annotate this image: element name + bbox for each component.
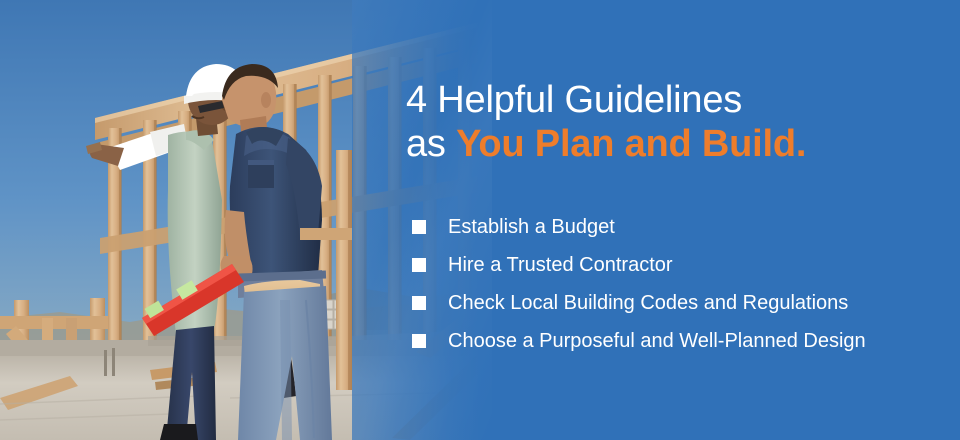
headline-line-2: as You Plan and Build. [406,122,946,166]
headline-accent: You Plan and Build. [456,123,806,165]
list-item-label: Choose a Purposeful and Well-Planned Des… [448,330,866,352]
guidelines-list: Establish a Budget Hire a Trusted Contra… [412,208,952,360]
banner-content: 4 Helpful Guidelines as You Plan and Bui… [406,0,946,440]
list-item-label: Check Local Building Codes and Regulatio… [448,292,848,314]
list-item: Hire a Trusted Contractor [412,246,952,284]
square-bullet-icon [412,220,426,234]
headline-line-1: 4 Helpful Guidelines [406,79,742,121]
square-bullet-icon [412,334,426,348]
square-bullet-icon [412,258,426,272]
square-bullet-icon [412,296,426,310]
list-item: Choose a Purposeful and Well-Planned Des… [412,322,952,360]
headline-prefix: as [406,123,456,165]
list-item: Check Local Building Codes and Regulatio… [412,284,952,322]
page-title: 4 Helpful Guidelines as You Plan and Bui… [406,78,946,166]
promo-banner: 4 Helpful Guidelines as You Plan and Bui… [0,0,960,440]
list-item-label: Hire a Trusted Contractor [448,254,673,276]
list-item-label: Establish a Budget [448,216,615,238]
list-item: Establish a Budget [412,208,952,246]
